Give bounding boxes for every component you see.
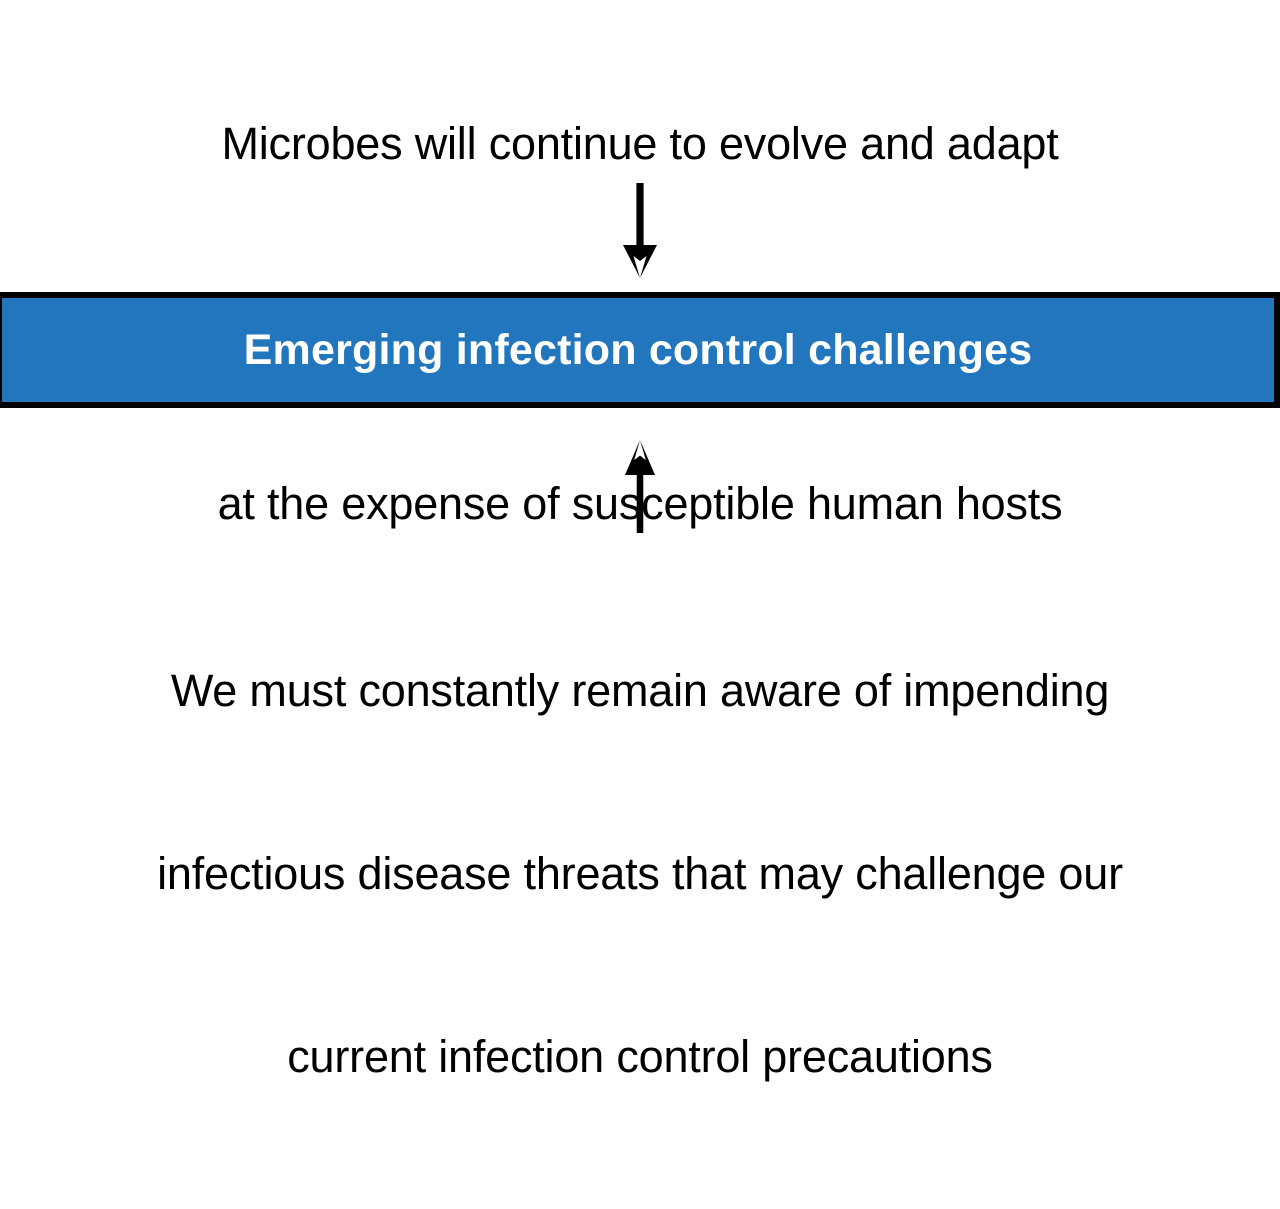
top-caption-line-1: Microbes will continue to evolve and ada…	[0, 114, 1280, 174]
emerging-challenges-banner: Emerging infection control challenges	[0, 292, 1280, 408]
arrow-up-glyph	[622, 438, 658, 533]
bottom-caption-line-2: infectious disease threats that may chal…	[0, 843, 1280, 904]
bottom-caption-line-1: We must constantly remain aware of impen…	[0, 660, 1280, 721]
slide-canvas: Microbes will continue to evolve and ada…	[0, 0, 1280, 714]
bottom-caption-line-3: current infection control precautions	[0, 1026, 1280, 1087]
banner-label: Emerging infection control challenges	[244, 329, 1033, 372]
arrow-down-glyph	[620, 183, 660, 283]
arrow-down-icon	[620, 183, 660, 283]
bottom-caption: We must constantly remain aware of impen…	[0, 538, 1280, 1209]
arrow-up-icon	[622, 438, 658, 533]
